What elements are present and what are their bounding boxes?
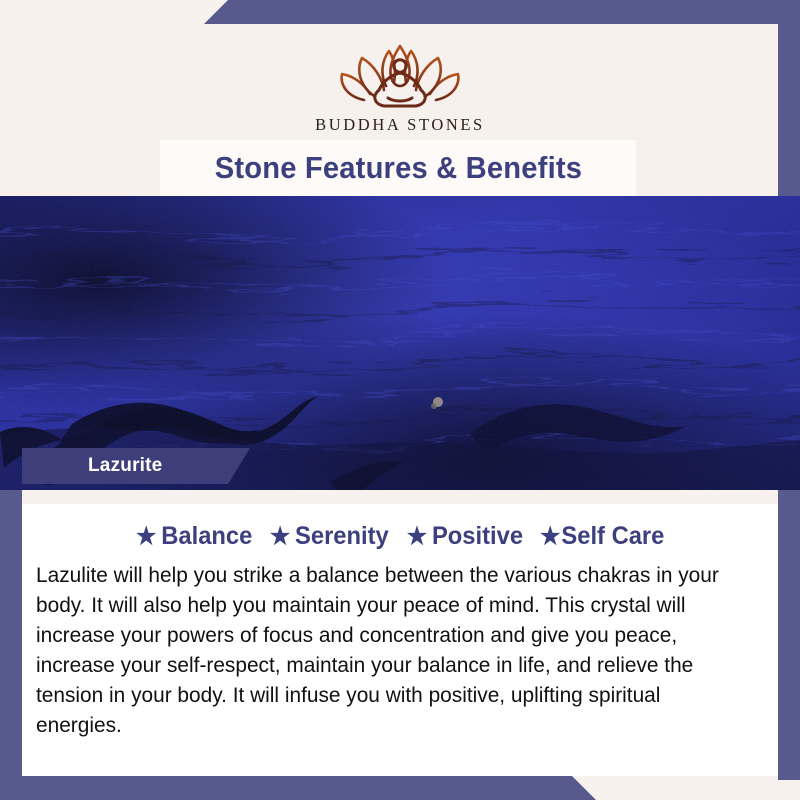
- keyword-serenity: ★ Serenity: [258, 522, 388, 551]
- brand-logo: BUDDHA STONES: [315, 38, 485, 135]
- keyword-label: Positive: [432, 522, 523, 551]
- keyword-label: Balance: [161, 522, 252, 551]
- star-icon: ★: [540, 525, 560, 549]
- star-icon: ★: [407, 525, 427, 549]
- brand-header: BUDDHA STONES: [0, 24, 800, 146]
- frame-top-band: [0, 0, 800, 24]
- keyword-self-care: ★ Self Care: [530, 522, 664, 551]
- stone-photo: [0, 196, 800, 490]
- page-title: Stone Features & Benefits: [214, 150, 581, 186]
- keyword-label: Self Care: [561, 522, 664, 551]
- stone-name-label: Lazurite: [22, 448, 250, 484]
- frame-bottom-band: [0, 776, 800, 800]
- stone-description: Lazulite will help you strike a balance …: [36, 560, 738, 740]
- keyword-balance: ★ Balance: [136, 522, 252, 551]
- star-icon: ★: [270, 525, 290, 549]
- keyword-list: ★ Balance ★ Serenity ★ Positive ★ Self C…: [22, 522, 778, 551]
- brand-name: BUDDHA STONES: [315, 115, 485, 135]
- content-panel: ★ Balance ★ Serenity ★ Positive ★ Self C…: [22, 490, 778, 776]
- keyword-label: Serenity: [295, 522, 389, 551]
- stone-name-text: Lazurite: [88, 455, 162, 477]
- lotus-meditation-figure-icon: [334, 38, 466, 112]
- star-icon: ★: [136, 525, 156, 549]
- poster-root: BUDDHA STONES Stone Features & Benefits: [0, 0, 800, 800]
- title-banner: Stone Features & Benefits: [160, 140, 636, 196]
- content-top-strip: [22, 490, 778, 504]
- keyword-positive: ★ Positive: [396, 522, 524, 551]
- stone-photo-image: [0, 196, 800, 490]
